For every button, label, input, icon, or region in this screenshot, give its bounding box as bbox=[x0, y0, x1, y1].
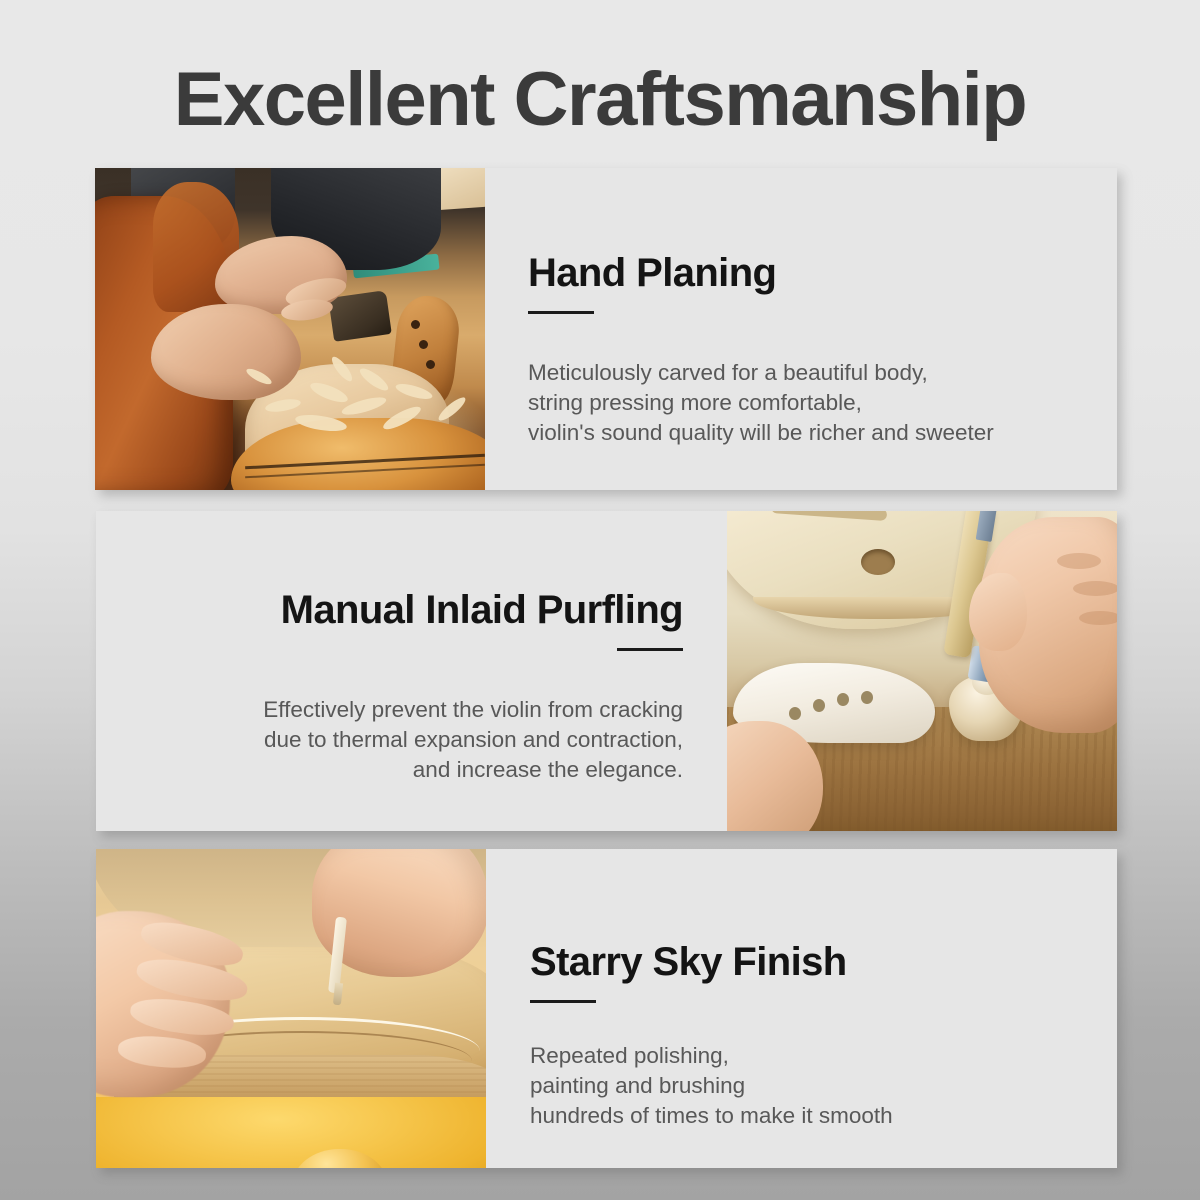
card-1-body: Meticulously carved for a beautiful body… bbox=[528, 358, 994, 448]
card-1-headline: Hand Planing bbox=[528, 252, 994, 294]
violin-polishing-varnish-finish-photo bbox=[96, 849, 486, 1168]
feature-card-hand-planing: Hand Planing Meticulously carved for a b… bbox=[95, 168, 1117, 490]
card-3-body: Repeated polishing, painting and brushin… bbox=[530, 1041, 893, 1131]
feature-card-starry-sky-finish: Starry Sky Finish Repeated polishing, pa… bbox=[96, 849, 1117, 1168]
card-2-copy: Manual Inlaid Purfling Effectively preve… bbox=[96, 511, 727, 831]
card-1-body-line: Meticulously carved for a beautiful body… bbox=[528, 358, 994, 388]
card-2-underline-rule bbox=[617, 648, 683, 651]
card-3-underline-rule bbox=[530, 1000, 596, 1003]
manual-purfling-inlay-chisel-photo bbox=[727, 511, 1117, 831]
card-2-body-line: due to thermal expansion and contraction… bbox=[263, 725, 683, 755]
feature-card-manual-inlaid-purfling: Manual Inlaid Purfling Effectively preve… bbox=[96, 511, 1117, 831]
card-1-body-line: string pressing more comfortable, bbox=[528, 388, 994, 418]
luthier-hand-planing-violin-top-photo bbox=[95, 168, 485, 490]
card-2-body: Effectively prevent the violin from crac… bbox=[263, 695, 683, 785]
card-2-body-line: and increase the elegance. bbox=[263, 755, 683, 785]
card-3-headline: Starry Sky Finish bbox=[530, 941, 893, 983]
card-2-body-line: Effectively prevent the violin from crac… bbox=[263, 695, 683, 725]
card-3-body-line: Repeated polishing, bbox=[530, 1041, 893, 1071]
card-1-copy: Hand Planing Meticulously carved for a b… bbox=[485, 168, 1117, 490]
card-3-copy: Starry Sky Finish Repeated polishing, pa… bbox=[486, 849, 1117, 1168]
card-1-body-line: violin's sound quality will be richer an… bbox=[528, 418, 994, 448]
card-1-underline-rule bbox=[528, 311, 594, 314]
card-2-headline: Manual Inlaid Purfling bbox=[263, 589, 683, 631]
page-title: Excellent Craftsmanship bbox=[0, 62, 1200, 138]
card-3-body-line: hundreds of times to make it smooth bbox=[530, 1101, 893, 1131]
card-3-body-line: painting and brushing bbox=[530, 1071, 893, 1101]
infographic-page: Excellent Craftsmanship bbox=[0, 0, 1200, 1200]
